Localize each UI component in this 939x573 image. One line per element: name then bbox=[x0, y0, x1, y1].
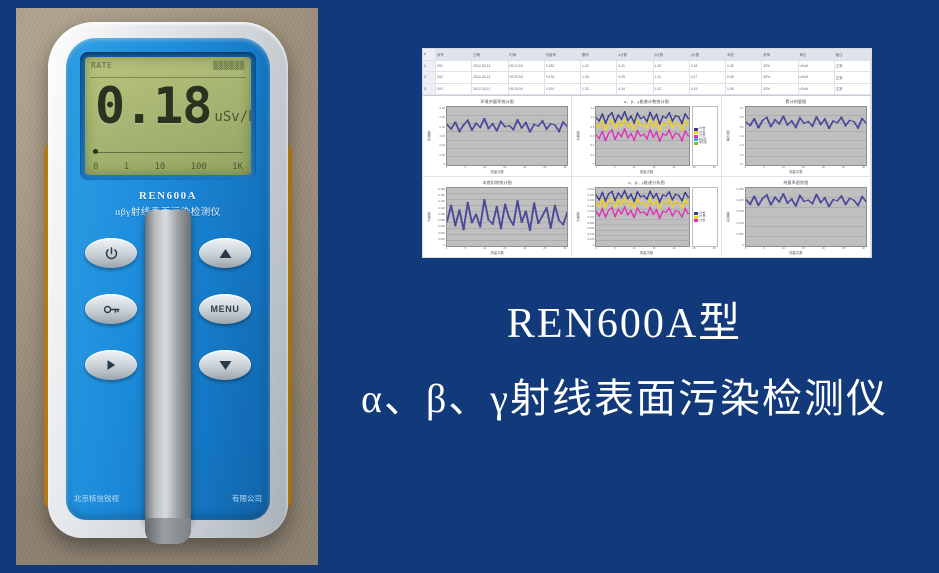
table-cell: uSv/h bbox=[799, 61, 835, 72]
table-cell: 09:22:04 bbox=[509, 72, 545, 83]
chart-y-axis-label: 剂量率 bbox=[426, 106, 432, 166]
table-header-cell: 剂量率 bbox=[545, 49, 581, 60]
chart-y-tick: 0.020 bbox=[581, 237, 594, 241]
chart-title: 累计剂量图 bbox=[725, 99, 867, 105]
chart-y-tick: 0.5 bbox=[731, 125, 744, 129]
table-cell: 0.191 bbox=[545, 84, 581, 95]
chart-y-ticks: 0.2000.1800.1600.1400.1200.1000.0800.060… bbox=[581, 187, 595, 247]
keypad-column-left bbox=[80, 238, 142, 406]
chart-y-tick: 0.160 bbox=[581, 198, 594, 202]
table-cell: 2 bbox=[423, 72, 436, 83]
chart-y-tick: 0.080 bbox=[581, 221, 594, 225]
chart-legend-label: γ计数 bbox=[699, 219, 705, 223]
table-cell: uSv/h bbox=[799, 84, 835, 95]
software-chart-grid: 环境剂量率统计图剂量率0.300.250.200.150.100.0501510… bbox=[423, 96, 871, 258]
keypad-column-right: MENU bbox=[194, 238, 256, 406]
table-cell: 2012-03-11 bbox=[472, 61, 508, 72]
chart-series-line bbox=[746, 194, 866, 207]
chart-plot-row: 剂量率0.2500.2000.1500.1000.0500 bbox=[725, 187, 867, 247]
table-cell: 正常 bbox=[835, 84, 871, 95]
chart-y-tick: 0.060 bbox=[432, 224, 445, 228]
chart-y-axis-label: 剂量率 bbox=[725, 187, 731, 247]
chart-x-axis-label: 测量次数 bbox=[426, 169, 568, 174]
table-cell: 0.176 bbox=[545, 72, 581, 83]
chart-y-tick: 0.180 bbox=[581, 193, 594, 197]
up-arrow-button[interactable] bbox=[199, 238, 251, 268]
chart-legend-swatch bbox=[694, 219, 698, 222]
table-cell: 正常 bbox=[835, 61, 871, 72]
table-cell: 正常 bbox=[835, 72, 871, 83]
table-cell: 32% bbox=[762, 72, 798, 83]
table-header-cell: 效率 bbox=[762, 49, 798, 60]
chart-y-tick: 0.140 bbox=[432, 199, 445, 203]
chart-y-tick: 0.040 bbox=[581, 232, 594, 236]
chart-plot-row: 剂量率0.300.250.200.150.100.050 bbox=[426, 106, 568, 166]
product-photo: RATE ▒▒▒▒▒▒ 0.18 uSv/h 01101001K bbox=[16, 8, 318, 565]
lcd-screen: RATE ▒▒▒▒▒▒ 0.18 uSv/h 01101001K bbox=[85, 57, 251, 175]
chart-y-tick: 1.0 bbox=[581, 115, 594, 119]
table-header-cell: α计数 bbox=[617, 49, 653, 60]
device-model-text: REN600A bbox=[66, 190, 270, 202]
chart-y-tick: 0.180 bbox=[432, 187, 445, 191]
chart-y-tick: 0.05 bbox=[432, 153, 445, 157]
chart-y-axis-label: 计数率 bbox=[426, 187, 432, 247]
table-row: 30032012-03-1109:23:040.1911.330.341.020… bbox=[423, 84, 871, 96]
chart-title: 本底扣除统计图 bbox=[426, 180, 568, 186]
lcd-value: 0.18 bbox=[95, 83, 211, 131]
chart-panel: 剂量率趋势图剂量率0.2500.2000.1500.1000.050015101… bbox=[722, 177, 871, 258]
chart-plot-area bbox=[745, 106, 867, 166]
chart-y-tick: 0.120 bbox=[432, 206, 445, 210]
chart-y-axis-label: 累计值 bbox=[725, 106, 731, 166]
chart-plot-area bbox=[446, 106, 568, 166]
chart-series-line bbox=[596, 119, 688, 131]
table-cell: 1.33 bbox=[581, 84, 617, 95]
chart-y-tick: 0.6 bbox=[731, 115, 744, 119]
table-row: 20022012-03-1109:22:040.1761.280.291.110… bbox=[423, 72, 871, 84]
table-cell: 0.31 bbox=[617, 61, 653, 72]
slide-canvas: RATE ▒▒▒▒▒▒ 0.18 uSv/h 01101001K bbox=[0, 0, 939, 573]
table-cell: 09:23:04 bbox=[509, 84, 545, 95]
chart-y-tick: 0.040 bbox=[432, 231, 445, 235]
chart-x-axis-label: 测量次数 bbox=[725, 169, 867, 174]
table-header-cell: 时间 bbox=[509, 49, 545, 60]
chart-y-tick: 0.30 bbox=[432, 106, 445, 110]
chart-y-tick: 0.140 bbox=[581, 204, 594, 208]
table-cell: 1.02 bbox=[654, 84, 690, 95]
chart-y-tick: 0.4 bbox=[731, 134, 744, 138]
table-cell: 0.34 bbox=[617, 84, 653, 95]
chart-y-tick: 0.100 bbox=[432, 212, 445, 216]
table-cell: 0.19 bbox=[690, 84, 726, 95]
chart-plot-row: 计数率1.21.00.80.60.40.20α计数β计数γ计数本底值阈值线 bbox=[575, 106, 717, 166]
table-cell: 002 bbox=[436, 72, 472, 83]
device-footer-left: 北京核信锐视 bbox=[74, 493, 119, 504]
chart-plot-area bbox=[595, 106, 689, 166]
chart-x-axis-label: 测量次数 bbox=[426, 250, 568, 255]
table-cell: 0.17 bbox=[690, 72, 726, 83]
table-cell: 1 bbox=[423, 61, 436, 72]
chart-y-tick: 0.3 bbox=[731, 143, 744, 147]
lcd-scale-tick: 1 bbox=[124, 162, 129, 172]
key-lock-button[interactable] bbox=[85, 294, 137, 324]
chart-y-tick: 0.7 bbox=[731, 106, 744, 110]
table-header-cell: 备注 bbox=[835, 49, 871, 60]
chart-y-tick: 0.15 bbox=[432, 134, 445, 138]
chart-title: 环境剂量率统计图 bbox=[426, 99, 568, 105]
chart-y-tick: 0.2 bbox=[731, 153, 744, 157]
lcd-scale-tick: 10 bbox=[154, 162, 165, 172]
table-header-cell: β计数 bbox=[654, 49, 690, 60]
lcd-bezel: RATE ▒▒▒▒▒▒ 0.18 uSv/h 01101001K bbox=[80, 52, 256, 180]
table-cell: 32% bbox=[762, 84, 798, 95]
chart-title: 剂量率趋势图 bbox=[725, 180, 867, 186]
menu-button-label: MENU bbox=[211, 304, 240, 314]
chart-plot-row: 计数率0.1800.1600.1400.1200.1000.0800.0600.… bbox=[426, 187, 568, 247]
table-cell: 1.24 bbox=[581, 61, 617, 72]
chart-y-tick: 0.250 bbox=[731, 187, 744, 191]
chart-y-tick: 0.200 bbox=[581, 187, 594, 191]
lcd-scale-tick: 0 bbox=[93, 162, 98, 172]
table-header-cell: 单位 bbox=[799, 49, 835, 60]
lcd-status-right: ▒▒▒▒▒▒ bbox=[213, 61, 245, 70]
chart-panel: 本底扣除统计图计数率0.1800.1600.1400.1200.1000.080… bbox=[423, 177, 572, 258]
chart-plot-row: 累计值0.70.60.50.40.30.20.1 bbox=[725, 106, 867, 166]
chart-series-line bbox=[447, 200, 567, 231]
chart-y-tick: 1.2 bbox=[581, 106, 594, 110]
chart-series-line bbox=[746, 116, 866, 128]
table-header-cell: 本底 bbox=[726, 49, 762, 60]
table-cell: 32% bbox=[762, 61, 798, 72]
radiation-detector-device: RATE ▒▒▒▒▒▒ 0.18 uSv/h 01101001K bbox=[48, 22, 288, 538]
table-row: 10012012-03-1109:21:040.1821.240.311.050… bbox=[423, 61, 871, 73]
table-cell: 003 bbox=[436, 84, 472, 95]
chart-y-tick: 0.020 bbox=[432, 237, 445, 241]
chart-panel: α、β、γ能谱分析图计数率0.2000.1800.1600.1400.1200.… bbox=[572, 177, 721, 258]
table-cell: 0.05 bbox=[726, 72, 762, 83]
chart-y-axis-label: 计数率 bbox=[575, 106, 581, 166]
lcd-status-left: RATE bbox=[91, 61, 112, 70]
chart-panel: 环境剂量率统计图剂量率0.300.250.200.150.100.0501510… bbox=[423, 96, 572, 177]
table-cell: 0.29 bbox=[617, 72, 653, 83]
chart-y-tick: 0.050 bbox=[731, 232, 744, 236]
chart-y-tick: 0.4 bbox=[581, 143, 594, 147]
chart-y-tick: 0.200 bbox=[731, 198, 744, 202]
page-subtitle: α、β、γ射线表面污染检测仪 bbox=[318, 366, 931, 424]
software-data-table: #序号日期时间剂量率累积α计数β计数γ计数本底效率单位备注10012012-03… bbox=[423, 49, 871, 96]
chart-y-tick: 0.25 bbox=[432, 115, 445, 119]
chart-title: α、β、γ能谱分析图 bbox=[575, 180, 717, 186]
chart-y-ticks: 0.1800.1600.1400.1200.1000.0800.0600.040… bbox=[432, 187, 446, 247]
table-cell: 0.05 bbox=[726, 61, 762, 72]
page-title: REN600A型 bbox=[318, 300, 931, 348]
chart-x-axis-label: 测量次数 bbox=[725, 250, 867, 255]
table-header-cell: 累积 bbox=[581, 49, 617, 60]
lcd-scale-tick: 100 bbox=[191, 162, 207, 172]
lcd-scale-tick: 1K bbox=[232, 162, 243, 172]
chart-y-tick: 0.120 bbox=[581, 209, 594, 213]
table-cell: 3 bbox=[423, 84, 436, 95]
table-cell: 09:21:04 bbox=[509, 61, 545, 72]
play-button[interactable] bbox=[85, 350, 137, 380]
chart-y-tick: 0.10 bbox=[432, 143, 445, 147]
chart-title: α、β、γ能谱计数统计图 bbox=[575, 99, 717, 105]
chart-series-line bbox=[596, 198, 688, 209]
chart-y-ticks: 1.21.00.80.60.40.20 bbox=[581, 106, 595, 166]
table-header-row: #序号日期时间剂量率累积α计数β计数γ计数本底效率单位备注 bbox=[423, 49, 871, 61]
chart-series-line bbox=[596, 129, 688, 141]
table-header-cell: γ计数 bbox=[690, 49, 726, 60]
chart-series-line bbox=[447, 119, 567, 132]
chart-y-tick: 0.150 bbox=[731, 209, 744, 213]
table-header-cell: 日期 bbox=[472, 49, 508, 60]
chart-legend-item: γ计数 bbox=[694, 219, 716, 223]
table-header-cell: # bbox=[423, 49, 436, 60]
lcd-status-row: RATE ▒▒▒▒▒▒ bbox=[91, 61, 245, 70]
chart-legend: α计数β计数γ计数本底值阈值线 bbox=[692, 106, 718, 166]
table-cell: 0.182 bbox=[545, 61, 581, 72]
chart-y-tick: 0.160 bbox=[432, 193, 445, 197]
table-cell: 1.28 bbox=[581, 72, 617, 83]
table-cell: 2012-03-11 bbox=[472, 72, 508, 83]
chart-y-tick: 0.080 bbox=[432, 218, 445, 222]
chart-y-tick: 0.100 bbox=[581, 215, 594, 219]
lcd-bargraph-marker bbox=[93, 149, 98, 154]
down-arrow-button[interactable] bbox=[199, 350, 251, 380]
chart-panel: α、β、γ能谱计数统计图计数率1.21.00.80.60.40.20α计数β计数… bbox=[572, 96, 721, 177]
chart-panel: 累计剂量图累计值0.70.60.50.40.30.20.115101520253… bbox=[722, 96, 871, 177]
table-cell: 1.05 bbox=[654, 61, 690, 72]
table-cell: 2012-03-11 bbox=[472, 84, 508, 95]
chart-legend-item: 阈值线 bbox=[694, 141, 716, 145]
chart-y-tick: 0.100 bbox=[731, 221, 744, 225]
lcd-unit: uSv/h bbox=[214, 109, 251, 131]
table-cell: uSv/h bbox=[799, 72, 835, 83]
table-cell: 0.18 bbox=[690, 61, 726, 72]
table-cell: 001 bbox=[436, 61, 472, 72]
slide-headline: REN600A型 α、β、γ射线表面污染检测仪 bbox=[318, 300, 931, 424]
chart-y-axis-label: 计数率 bbox=[575, 187, 581, 247]
menu-button[interactable]: MENU bbox=[199, 294, 251, 324]
chart-legend-label: 阈值线 bbox=[699, 141, 707, 145]
chart-y-ticks: 0.70.60.50.40.30.20.1 bbox=[731, 106, 745, 166]
table-cell: 0.05 bbox=[726, 84, 762, 95]
software-screenshot: #序号日期时间剂量率累积α计数β计数γ计数本底效率单位备注10012012-03… bbox=[422, 48, 872, 258]
chart-x-axis-label: 测量次数 bbox=[575, 250, 717, 255]
chart-plot-area bbox=[745, 187, 867, 247]
chart-plot-area bbox=[595, 187, 689, 247]
device-hand-strap bbox=[145, 210, 191, 530]
lcd-reading: 0.18 uSv/h bbox=[95, 83, 251, 131]
lcd-bargraph bbox=[93, 145, 243, 153]
chart-series-line bbox=[596, 207, 688, 218]
chart-y-tick: 0.060 bbox=[581, 226, 594, 230]
chart-plot-area bbox=[446, 187, 568, 247]
chart-x-axis-label: 测量次数 bbox=[575, 169, 717, 174]
chart-y-ticks: 0.2500.2000.1500.1000.0500 bbox=[731, 187, 745, 247]
device-footer-right: 有限公司 bbox=[232, 493, 262, 504]
lcd-scale-ticks: 01101001K bbox=[93, 162, 243, 172]
chart-plot-row: 计数率0.2000.1800.1600.1400.1200.1000.0800.… bbox=[575, 187, 717, 247]
chart-legend-swatch bbox=[694, 142, 698, 145]
power-button[interactable] bbox=[85, 238, 137, 268]
chart-legend: α计数β计数γ计数 bbox=[692, 187, 718, 247]
chart-y-tick: 0.6 bbox=[581, 134, 594, 138]
chart-y-tick: 0.8 bbox=[581, 125, 594, 129]
table-cell: 1.11 bbox=[654, 72, 690, 83]
table-header-cell: 序号 bbox=[436, 49, 472, 60]
chart-y-tick: 0.20 bbox=[432, 125, 445, 129]
chart-y-tick: 0.2 bbox=[581, 153, 594, 157]
chart-y-ticks: 0.300.250.200.150.100.050 bbox=[432, 106, 446, 166]
